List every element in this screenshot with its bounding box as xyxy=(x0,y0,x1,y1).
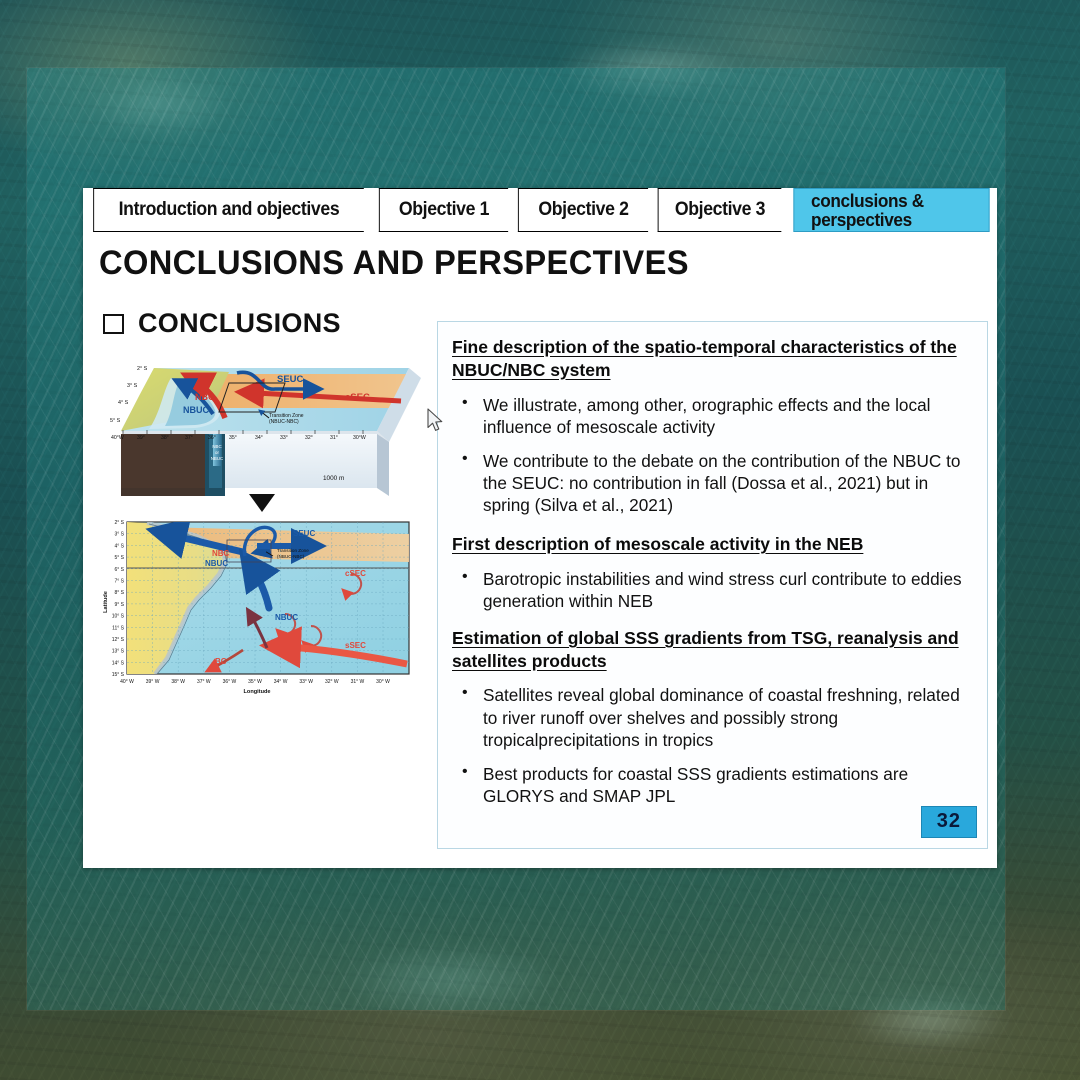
svg-text:6° S: 6° S xyxy=(114,567,124,573)
svg-text:3° S: 3° S xyxy=(127,383,138,389)
svg-text:39°: 39° xyxy=(137,435,145,441)
svg-text:NBUC: NBUC xyxy=(205,559,228,568)
svg-text:2° S: 2° S xyxy=(114,520,124,526)
svg-text:36° W: 36° W xyxy=(223,679,237,685)
svg-text:35°: 35° xyxy=(229,435,237,441)
svg-text:NBUC: NBUC xyxy=(275,613,298,622)
tab-label: Objective 2 xyxy=(538,200,628,220)
svg-text:38°: 38° xyxy=(161,435,169,441)
svg-text:NBUC: NBUC xyxy=(183,405,209,415)
list-item: Best products for coastal SSS gradients … xyxy=(452,763,975,807)
svg-text:5° S: 5° S xyxy=(114,555,124,561)
conclusions-textbox: Fine description of the spatio-temporal … xyxy=(437,321,988,849)
svg-text:15° S: 15° S xyxy=(112,672,125,678)
section-1-bullets: We illustrate, among other, orographic e… xyxy=(452,394,975,516)
section-tab-bar: Introduction and objectives Objective 1 … xyxy=(83,188,997,232)
svg-text:40°W: 40°W xyxy=(111,435,124,441)
tab-objective-3[interactable]: Objective 3 xyxy=(658,188,782,232)
svg-text:4° S: 4° S xyxy=(118,400,129,406)
svg-text:31°: 31° xyxy=(330,435,338,441)
svg-text:32°: 32° xyxy=(305,435,313,441)
section-heading-3: Estimation of global SSS gradients from … xyxy=(452,627,975,673)
section-2-bullets: Barotropic instabilities and wind stress… xyxy=(452,568,975,612)
svg-text:10° S: 10° S xyxy=(112,614,125,620)
svg-text:4° S: 4° S xyxy=(114,543,124,549)
page-title: CONCLUSIONS AND PERSPECTIVES xyxy=(99,244,689,283)
svg-text:34° W: 34° W xyxy=(274,679,288,685)
svg-text:7° S: 7° S xyxy=(114,579,124,585)
svg-text:3° S: 3° S xyxy=(114,532,124,538)
svg-text:9° S: 9° S xyxy=(114,602,124,608)
tab-objective-2[interactable]: Objective 2 xyxy=(518,188,648,232)
tab-label: conclusions & perspectives xyxy=(811,191,980,230)
figures-block: 2° S 3° S 4° S 5° S 40°W 39° 38° 37° 36°… xyxy=(97,356,423,496)
svg-text:36°: 36° xyxy=(208,435,216,441)
svg-text:37°: 37° xyxy=(185,435,193,441)
svg-text:1000 m: 1000 m xyxy=(323,475,344,482)
list-item: Satellites reveal global dominance of co… xyxy=(452,684,975,750)
list-item: We illustrate, among other, orographic e… xyxy=(452,394,975,438)
svg-text:Longitude: Longitude xyxy=(243,689,270,695)
list-item: We contribute to the debate on the contr… xyxy=(452,450,975,516)
flow-down-arrow-icon xyxy=(249,494,275,512)
svg-text:13° S: 13° S xyxy=(112,649,125,655)
svg-text:35° W: 35° W xyxy=(248,679,262,685)
svg-text:40° W: 40° W xyxy=(120,679,134,685)
tab-label: Objective 3 xyxy=(675,200,765,220)
slide-canvas: Introduction and objectives Objective 1 … xyxy=(83,188,997,868)
svg-text:cSEC: cSEC xyxy=(345,569,366,578)
section-3-bullets: Satellites reveal global dominance of co… xyxy=(452,684,975,806)
svg-text:NBUC: NBUC xyxy=(211,456,223,461)
section-heading-1: Fine description of the spatio-temporal … xyxy=(452,336,975,382)
square-bullet-icon xyxy=(103,314,124,334)
svg-text:NBC: NBC xyxy=(212,549,230,558)
page-number-badge: 32 xyxy=(921,806,977,838)
svg-text:(NBUC-NBC): (NBUC-NBC) xyxy=(269,419,299,425)
svg-text:NBC: NBC xyxy=(195,392,215,402)
svg-text:14° S: 14° S xyxy=(112,660,125,666)
svg-text:12° S: 12° S xyxy=(112,637,125,643)
left-column: CONCLUSIONS xyxy=(97,308,423,339)
tab-label: Introduction and objectives xyxy=(119,200,340,220)
svg-text:2° S: 2° S xyxy=(137,366,148,372)
list-item: Barotropic instabilities and wind stress… xyxy=(452,568,975,612)
svg-text:NBC: NBC xyxy=(212,444,221,449)
svg-text:30° W: 30° W xyxy=(376,679,390,685)
svg-text:BC: BC xyxy=(215,657,227,666)
tab-introduction-and-objectives[interactable]: Introduction and objectives xyxy=(93,188,364,232)
conclusions-heading-label: CONCLUSIONS xyxy=(138,308,341,339)
svg-text:33° W: 33° W xyxy=(299,679,313,685)
tab-conclusions-and-perspectives[interactable]: conclusions & perspectives xyxy=(793,188,989,232)
tab-objective-1[interactable]: Objective 1 xyxy=(379,188,508,232)
conclusions-heading: CONCLUSIONS xyxy=(97,308,423,339)
svg-text:30°W: 30°W xyxy=(353,435,366,441)
svg-text:38° W: 38° W xyxy=(171,679,185,685)
svg-text:sSEC: sSEC xyxy=(345,641,366,650)
svg-text:33°: 33° xyxy=(280,435,288,441)
figure-3d-block-diagram: 2° S 3° S 4° S 5° S 40°W 39° 38° 37° 36°… xyxy=(109,356,421,496)
svg-text:8° S: 8° S xyxy=(114,590,124,596)
svg-text:5° S: 5° S xyxy=(110,418,121,424)
svg-text:37° W: 37° W xyxy=(197,679,211,685)
figure-circulation-map: SEUC NBC NBUC cSEC NBUC sSEC BC Transiti… xyxy=(97,516,423,696)
svg-text:32° W: 32° W xyxy=(325,679,339,685)
svg-text:SEUC: SEUC xyxy=(293,529,315,538)
svg-text:(NBUC-NBC): (NBUC-NBC) xyxy=(277,554,305,559)
svg-text:39° W: 39° W xyxy=(146,679,160,685)
section-heading-2: First description of mesoscale activity … xyxy=(452,533,975,556)
svg-text:31° W: 31° W xyxy=(351,679,365,685)
svg-text:or: or xyxy=(215,450,219,455)
svg-text:34°: 34° xyxy=(255,435,263,441)
svg-text:Latitude: Latitude xyxy=(103,591,109,613)
svg-text:11° S: 11° S xyxy=(112,625,125,631)
svg-text:SEUC: SEUC xyxy=(277,374,304,385)
svg-text:Transition Zone: Transition Zone xyxy=(277,548,309,553)
tab-label: Objective 1 xyxy=(399,200,489,220)
svg-text:cSEC: cSEC xyxy=(345,392,370,403)
